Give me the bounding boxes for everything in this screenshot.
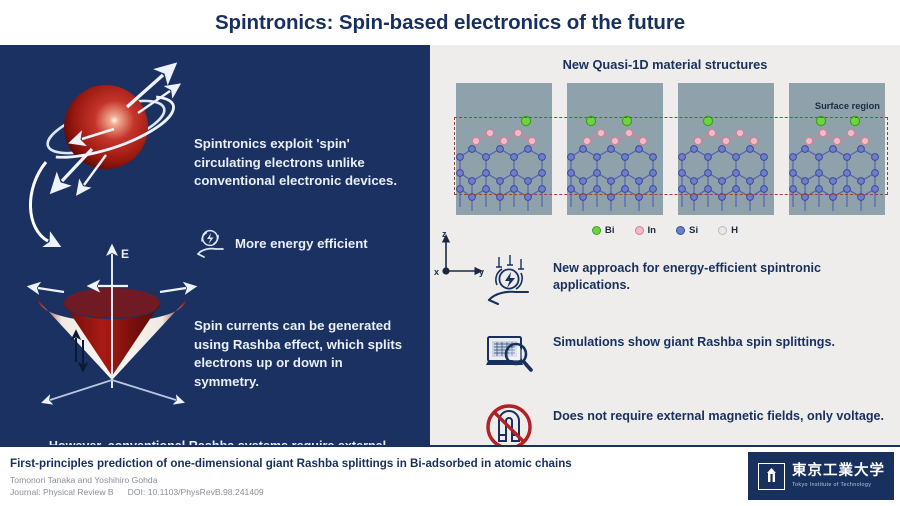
legend-item-h: H <box>718 225 738 236</box>
x-axis-origin <box>442 267 449 274</box>
rashba-spin-split-cone: E <box>24 240 199 405</box>
axes-svg: z y x <box>430 229 486 281</box>
axes-indicator: z y x <box>430 229 486 281</box>
bullet-simulations: Simulations show giant Rashba spin split… <box>485 327 900 383</box>
spin-arrow-rim-right <box>160 288 186 292</box>
hand-energy-icon <box>196 227 226 259</box>
bullet-text-no-magnetic-field: Does not require external magnetic field… <box>553 401 884 425</box>
k-axis-left <box>50 380 112 400</box>
surface-region-box <box>454 117 888 195</box>
bi-dot-icon <box>592 226 601 235</box>
legend-label-in: In <box>648 225 657 236</box>
left-bottom-note: However, conventional Rashba systems req… <box>25 438 410 445</box>
spinning-electron-sphere <box>18 57 193 247</box>
legend-item-bi: Bi <box>592 225 615 236</box>
page-title: Spintronics: Spin-based electronics of t… <box>215 11 685 35</box>
right-panel: New Quasi-1D material structures <box>430 45 900 445</box>
energy-efficient-label: More energy efficient <box>235 236 368 251</box>
left-paragraph-1: Spintronics exploit 'spin' circulating e… <box>194 135 419 191</box>
legend-item-in: In <box>635 225 657 236</box>
spin-sphere-svg <box>18 57 193 247</box>
bullet-text-simulations: Simulations show giant Rashba spin split… <box>553 327 835 351</box>
paper-journal-row: Journal: Physical Review B DOI: 10.1103/… <box>10 487 264 497</box>
legend-label-h: H <box>731 225 738 236</box>
rashba-cone-svg: E <box>24 240 199 405</box>
logo-text-block: 東京工業大学 Tokyo Institute of Technology <box>792 464 885 488</box>
si-dot-icon <box>676 226 685 235</box>
y-axis-label: y <box>479 267 484 277</box>
bullet-text-energy-efficient: New approach for energy-efficient spintr… <box>553 253 900 295</box>
hand-energy-icon <box>485 253 535 305</box>
paper-doi[interactable]: DOI: 10.1103/PhysRevB.98.241409 <box>128 487 264 497</box>
energy-efficient-row: More energy efficient <box>196 227 368 259</box>
spin-arrow-rim-left <box>38 288 64 292</box>
laptop-magnifier-icon <box>485 327 535 379</box>
energy-axis-label: E <box>121 247 129 261</box>
paper-title: First-principles prediction of one-dimen… <box>10 457 730 470</box>
logo-japanese-text: 東京工業大学 <box>792 464 885 479</box>
infographic-root: Spintronics: Spin-based electronics of t… <box>0 0 900 506</box>
no-magnet-icon <box>485 401 535 445</box>
logo-english-text: Tokyo Institute of Technology <box>792 482 885 488</box>
bullet-no-magnetic-field: Does not require external magnetic field… <box>485 401 900 445</box>
x-axis-label: x <box>434 267 439 277</box>
title-bar: Spintronics: Spin-based electronics of t… <box>0 0 900 45</box>
h-dot-icon <box>718 226 727 235</box>
k-axis-right <box>112 380 176 400</box>
structure-strip: Surface region z y x <box>456 83 886 223</box>
left-panel: E Spintronics exploit 'spin' circulating… <box>0 45 430 445</box>
in-dot-icon <box>635 226 644 235</box>
legend-label-bi: Bi <box>605 225 615 236</box>
surface-region-label: Surface region <box>815 101 880 111</box>
paper-authors: Tomonori Tanaka and Yoshihiro Gohda <box>10 475 157 485</box>
university-logo: 東京工業大学 Tokyo Institute of Technology <box>748 452 894 500</box>
bullet-energy-efficient: New approach for energy-efficient spintr… <box>485 253 900 309</box>
legend-item-si: Si <box>676 225 698 236</box>
flow-curved-arrow <box>30 162 48 241</box>
legend-label-si: Si <box>689 225 698 236</box>
atom-legend: Bi In Si H <box>430 225 900 236</box>
left-paragraph-2: Spin currents can be generated using Ras… <box>194 317 409 392</box>
key-findings-list: New approach for energy-efficient spintr… <box>485 253 900 445</box>
titech-mark-icon <box>758 463 785 490</box>
right-panel-heading: New Quasi-1D material structures <box>430 57 900 72</box>
paper-journal: Journal: Physical Review B <box>10 487 114 497</box>
